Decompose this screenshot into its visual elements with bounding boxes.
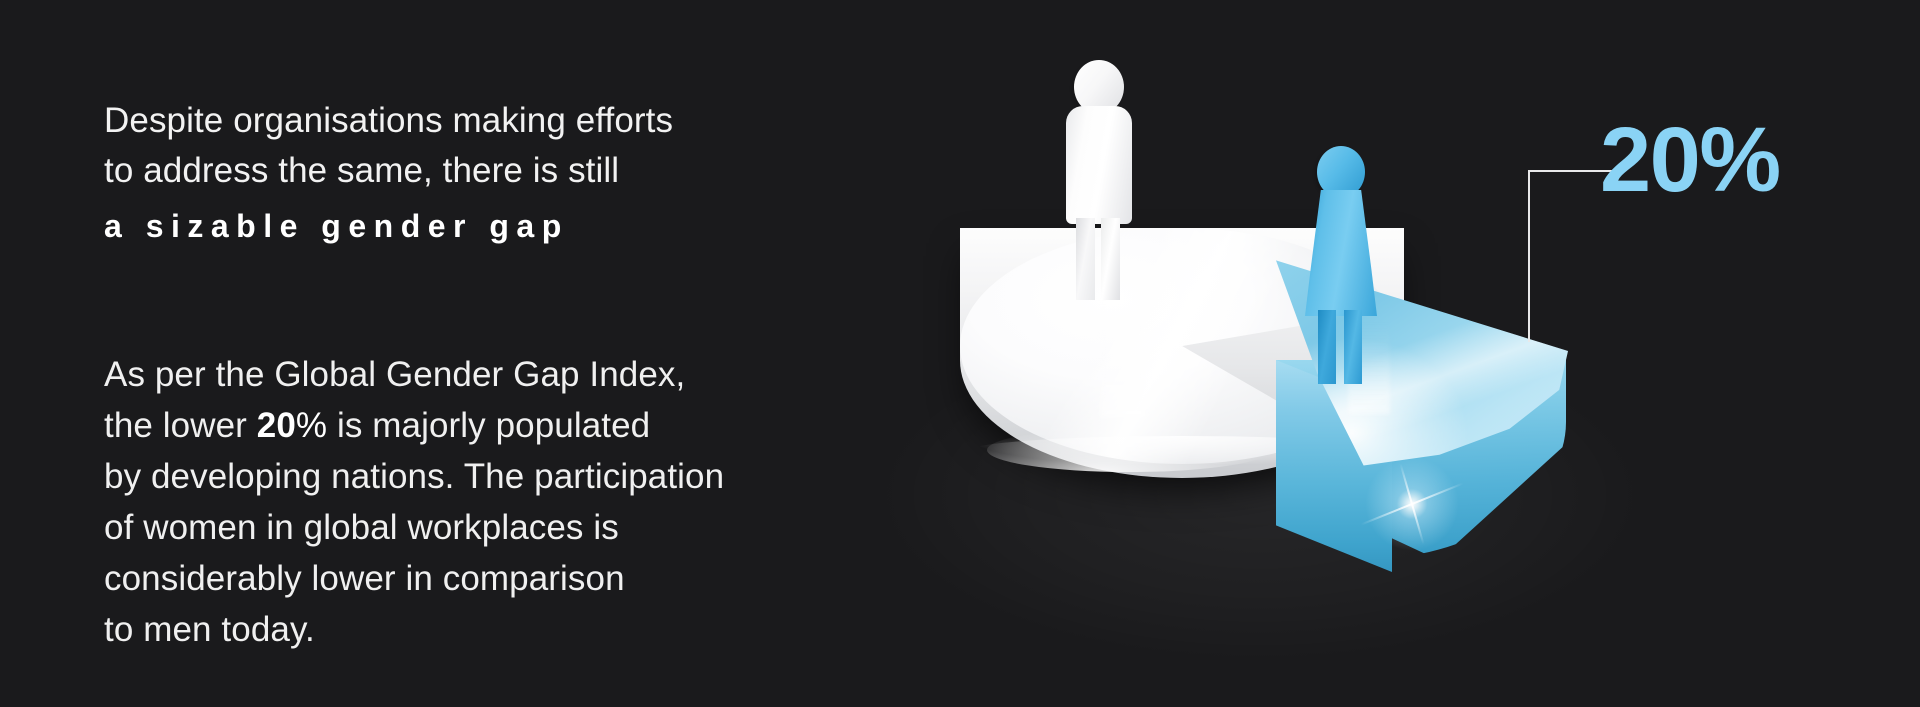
male-left-leg (1076, 218, 1095, 300)
female-torso (1305, 190, 1377, 316)
callout-leader-line-vertical (1528, 170, 1530, 342)
infographic-canvas: Despite organisations making efforts to … (0, 0, 1920, 707)
female-left-leg (1318, 310, 1336, 384)
body-highlight-number: 20 (257, 406, 296, 445)
male-figure-icon (1056, 60, 1142, 290)
male-right-leg (1101, 218, 1120, 300)
body-paragraph: As per the Global Gender Gap Index, the … (104, 298, 894, 655)
lede-paragraph: Despite organisations making efforts to … (104, 96, 894, 196)
male-figure-reflection (1100, 298, 1146, 418)
text-column: Despite organisations making efforts to … (104, 96, 894, 655)
pie-chart (960, 60, 1660, 620)
callout-value-label: 20% (1600, 114, 1780, 206)
male-torso (1066, 106, 1132, 224)
female-right-leg (1344, 310, 1362, 384)
headline: a sizable gender gap (104, 200, 894, 252)
body-highlight-percent: % (296, 406, 327, 445)
female-figure-icon (1298, 146, 1384, 378)
